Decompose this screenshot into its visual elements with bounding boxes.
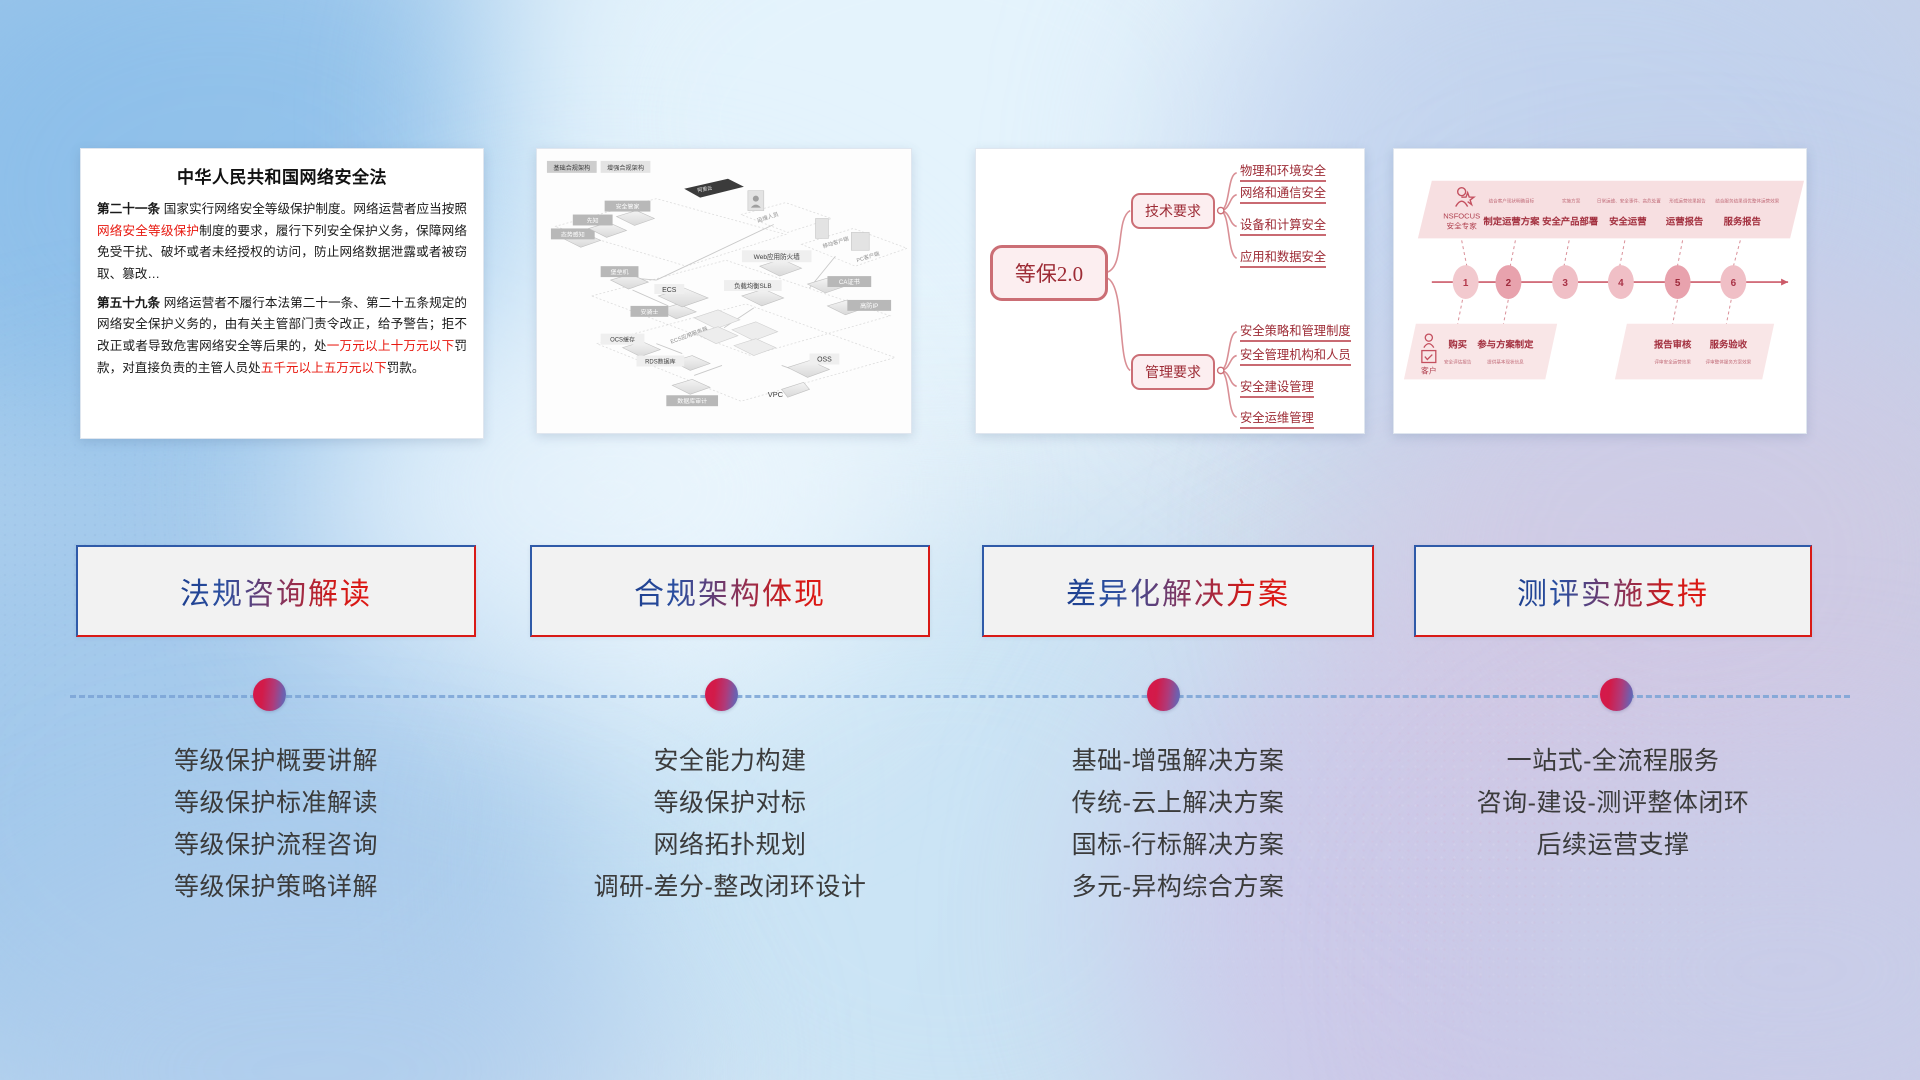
mindmap-leaf: 设备和计算安全 [1240, 215, 1326, 236]
step-bottom-title: 服务验收 [1710, 339, 1748, 350]
svg-text:CA证书: CA证书 [839, 278, 860, 286]
provider-label-line2: 安全专家 [1447, 220, 1478, 230]
section-items-row: 等级保护概要讲解 等级保护标准解读 等级保护流程咨询 等级保护策略详解 安全能力… [0, 740, 1920, 1000]
section-item: 咨询-建设-测评整体闭环 [1414, 782, 1812, 824]
section-items-column-1: 等级保护概要讲解 等级保护标准解读 等级保护流程咨询 等级保护策略详解 [76, 740, 476, 908]
mindmap-leaf: 安全建设管理 [1240, 377, 1314, 398]
section-items-column-2: 安全能力构建 等级保护对标 网络拓扑规划 调研-差分-整改闭环设计 [530, 740, 930, 908]
section-item: 国标-行标解决方案 [982, 824, 1374, 866]
section-item: 基础-增强解决方案 [982, 740, 1374, 782]
section-title-box-2[interactable]: 合规架构体现 [530, 545, 930, 637]
section-title-row: 法规咨询解读 合规架构体现 差异化解决方案 测评实施支持 [0, 545, 1920, 645]
section-item: 等级保护对标 [530, 782, 930, 824]
step-number: 3 [1562, 278, 1568, 289]
law-text-highlight: 网络安全等级保护 [97, 224, 199, 238]
section-items-column-3: 基础-增强解决方案 传统-云上解决方案 国标-行标解决方案 多元-异构综合方案 [982, 740, 1374, 908]
law-article: 第二十一条 国家实行网络安全等级保护制度。网络运营者应当按照网络安全等级保护制度… [97, 199, 467, 286]
timeline-marker-2[interactable] [705, 678, 738, 711]
step-bottom-title: 参与方案制定 [1477, 339, 1534, 350]
svg-text:运维人员: 运维人员 [756, 210, 780, 225]
section-title-label: 合规架构体现 [634, 569, 826, 613]
step-bottom-sub: 提供基本现状信息 [1487, 358, 1524, 365]
mindmap-leaf: 安全管理机构和人员 [1240, 345, 1351, 366]
svg-text:高防IP: 高防IP [860, 302, 878, 310]
architecture-svg: 阿里云 基础合规架构 增强合规架构 态势感知 [537, 149, 911, 433]
mindmap-leaf: 安全策略和管理制度 [1240, 321, 1351, 342]
step-number: 2 [1506, 278, 1512, 289]
step-bottom-sub: 评审整体服务方案效果 [1706, 358, 1752, 365]
step-number: 6 [1731, 278, 1737, 289]
card-service-timeline: NSFOCUS 安全专家 客户 [1393, 148, 1807, 434]
svg-text:RDS数据库: RDS数据库 [645, 357, 676, 365]
law-text: 国家实行网络安全等级保护制度。网络运营者应当按照 [160, 202, 467, 216]
step-top-title: 安全运营 [1609, 215, 1646, 226]
timeline-dashed-line [70, 695, 1850, 698]
card-cloud-architecture: 阿里云 基础合规架构 增强合规架构 态势感知 [536, 148, 912, 434]
svg-text:堡垒机: 堡垒机 [611, 268, 629, 276]
svg-text:安全管家: 安全管家 [616, 203, 640, 211]
provider-label-line1: NSFOCUS [1443, 212, 1480, 221]
mindmap-leaf: 物理和环境安全 [1240, 161, 1326, 182]
timeline-marker-3[interactable] [1147, 678, 1180, 711]
illustration-card-row: 中华人民共和国网络安全法 第二十一条 国家实行网络安全等级保护制度。网络运营者应… [0, 148, 1920, 440]
law-text: 罚款。 [387, 361, 425, 375]
step-top-title: 运营报告 [1666, 215, 1703, 226]
law-text-highlight: 五千元以上五万元以下 [261, 361, 387, 375]
step-top-sub: 结合客户现状明确目标 [1489, 198, 1535, 205]
law-document: 中华人民共和国网络安全法 第二十一条 国家实行网络安全等级保护制度。网络运营者应… [81, 149, 483, 389]
step-number: 4 [1618, 278, 1624, 289]
mindmap-leaf: 应用和数据安全 [1240, 247, 1326, 268]
svg-text:先知: 先知 [587, 216, 599, 224]
section-item: 后续运营支撑 [1414, 824, 1812, 866]
step-top-sub: 实施方案 [1562, 198, 1581, 205]
section-title-label: 差异化解决方案 [1066, 569, 1290, 613]
svg-text:增强合规架构: 增强合规架构 [607, 164, 644, 172]
card-mindmap-dengbao: 等保2.0 技术要求 管理要求 物理和环境安全 网络和通信安全 设备和计算安全 … [975, 148, 1365, 434]
architecture-diagram: 阿里云 基础合规架构 增强合规架构 态势感知 [537, 149, 911, 433]
nsfocus-timeline: NSFOCUS 安全专家 客户 [1394, 149, 1806, 433]
section-title-label: 测评实施支持 [1517, 569, 1709, 613]
step-top-sub: 日常运维、安全事件、高危处置 [1597, 198, 1661, 205]
section-item: 一站式-全流程服务 [1414, 740, 1812, 782]
svg-text:OCS缓存: OCS缓存 [610, 336, 635, 344]
step-bottom-title: 购买 [1448, 339, 1467, 350]
timeline-marker-4[interactable] [1600, 678, 1633, 711]
step-bottom-sub: 评审安全运营效果 [1654, 358, 1691, 365]
step-number: 5 [1675, 278, 1681, 289]
mindmap-branch-technical: 技术要求 [1131, 193, 1215, 229]
step-bottom-sub: 安全评估报告 [1444, 358, 1472, 365]
step-number: 1 [1463, 278, 1469, 289]
customer-label: 客户 [1421, 365, 1437, 375]
law-title: 中华人民共和国网络安全法 [97, 163, 467, 188]
mindmap-root-node: 等保2.0 [990, 245, 1108, 301]
nsfocus-timeline-svg: NSFOCUS 安全专家 客户 [1394, 149, 1806, 433]
mindmap-branch-management: 管理要求 [1131, 354, 1215, 390]
svg-text:基础合规架构: 基础合规架构 [553, 164, 590, 172]
section-item: 安全能力构建 [530, 740, 930, 782]
section-item: 传统-云上解决方案 [982, 782, 1374, 824]
svg-text:负载均衡SLB: 负载均衡SLB [734, 281, 772, 290]
step-top-title: 安全产品部署 [1542, 215, 1599, 226]
svg-text:态势感知: 态势感知 [561, 230, 585, 238]
law-article-label: 第二十一条 [97, 202, 160, 216]
law-article: 第五十九条 网络运营者不履行本法第二十一条、第二十五条规定的网络安全保护义务的，… [97, 293, 467, 380]
section-item: 网络拓扑规划 [530, 824, 930, 866]
svg-text:ECS: ECS [662, 287, 677, 294]
section-title-box-1[interactable]: 法规咨询解读 [76, 545, 476, 637]
timeline-track [0, 672, 1920, 724]
svg-text:VPC: VPC [768, 390, 784, 399]
mindmap-leaf: 网络和通信安全 [1240, 183, 1326, 204]
section-title-box-4[interactable]: 测评实施支持 [1414, 545, 1812, 637]
svg-text:安骑士: 安骑士 [640, 308, 658, 316]
svg-text:OSS: OSS [817, 357, 832, 364]
svg-text:数据库审计: 数据库审计 [677, 397, 707, 405]
law-text-highlight: 一万元以上十万元以下 [327, 339, 455, 353]
mindmap-diagram: 等保2.0 技术要求 管理要求 物理和环境安全 网络和通信安全 设备和计算安全 … [976, 149, 1364, 433]
section-title-box-3[interactable]: 差异化解决方案 [982, 545, 1374, 637]
step-top-sub: 形成运营效果报告 [1669, 198, 1706, 205]
card-cybersecurity-law: 中华人民共和国网络安全法 第二十一条 国家实行网络安全等级保护制度。网络运营者应… [80, 148, 484, 439]
law-article-label: 第五十九条 [97, 296, 160, 310]
svg-text:Web应用防火墙: Web应用防火墙 [754, 252, 801, 261]
section-item: 等级保护流程咨询 [76, 824, 476, 866]
section-item: 调研-差分-整改闭环设计 [530, 866, 930, 908]
slide-stage: 中华人民共和国网络安全法 第二十一条 国家实行网络安全等级保护制度。网络运营者应… [0, 0, 1920, 1080]
section-item: 等级保护策略详解 [76, 866, 476, 908]
section-title-label: 法规咨询解读 [180, 569, 372, 613]
section-item: 等级保护概要讲解 [76, 740, 476, 782]
section-item: 等级保护标准解读 [76, 782, 476, 824]
step-top-title: 服务报告 [1724, 215, 1761, 226]
section-items-column-4: 一站式-全流程服务 咨询-建设-测评整体闭环 后续运营支撑 [1414, 740, 1812, 866]
step-top-sub: 结合服务结果调优整体运营效果 [1715, 198, 1779, 205]
step-bottom-title: 报告审核 [1654, 339, 1692, 350]
mindmap-leaf: 安全运维管理 [1240, 408, 1314, 429]
step-top-title: 制定运营方案 [1483, 215, 1540, 226]
section-item: 多元-异构综合方案 [982, 866, 1374, 908]
timeline-marker-1[interactable] [253, 678, 286, 711]
